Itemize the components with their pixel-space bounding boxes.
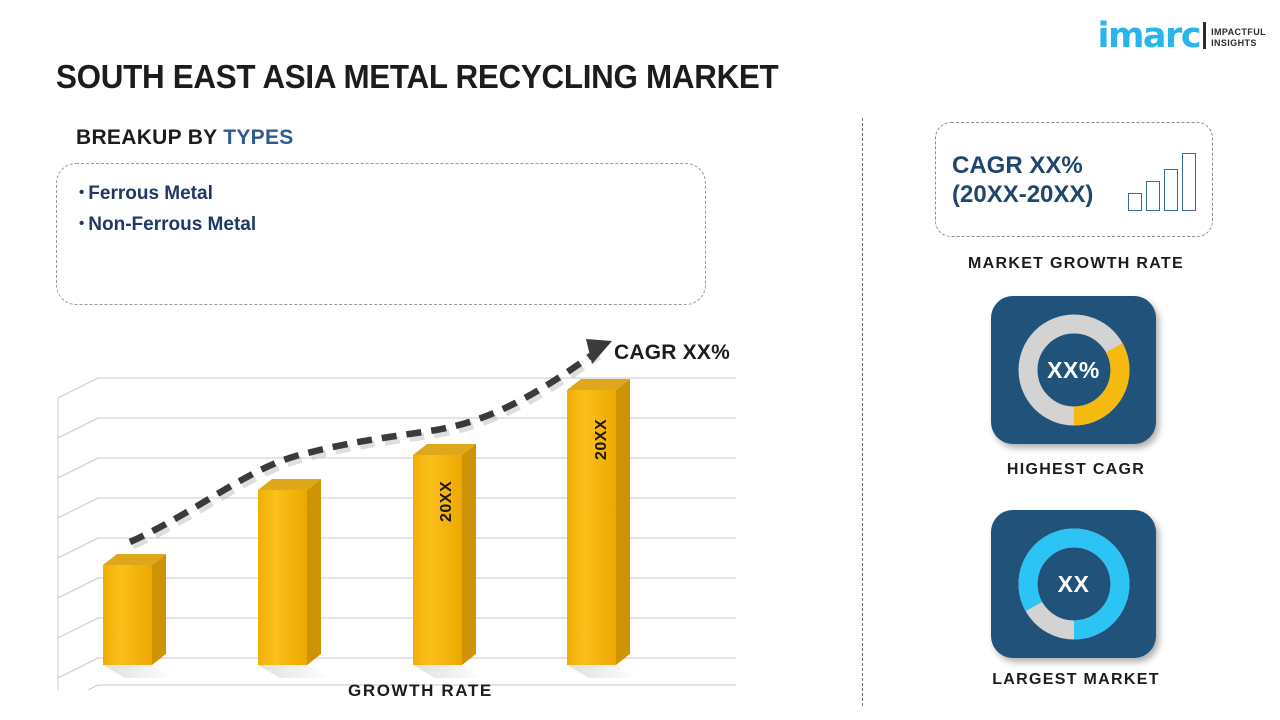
page-title: SOUTH EAST ASIA METAL RECYCLING MARKET: [56, 58, 778, 96]
list-item-label: Non-Ferrous Metal: [88, 214, 256, 235]
bar-2: [258, 479, 321, 665]
donut-value-highest-cagr: XX%: [1015, 311, 1133, 429]
list-item: •Ferrous Metal: [79, 178, 683, 209]
bullet-icon: •: [79, 215, 84, 232]
subtitle-accent: TYPES: [223, 126, 293, 149]
market-growth-rate-caption: MARKET GROWTH RATE: [926, 255, 1226, 273]
logo-tagline: IMPACTFUL INSIGHTS: [1211, 27, 1266, 49]
highest-cagr-caption: HIGHEST CAGR: [926, 461, 1226, 479]
chart-x-axis-label: GROWTH RATE: [348, 681, 493, 701]
market-growth-rate-card: CAGR XX% (20XX-20XX): [935, 122, 1213, 237]
bullet-icon: •: [79, 184, 84, 201]
bar-1: [103, 552, 166, 665]
donut-chart-largest-market: XX: [1015, 525, 1133, 643]
chart-trendline: [130, 339, 612, 546]
bar-label-3: 20XX: [438, 481, 456, 522]
bar-chart-icon: [1128, 149, 1196, 211]
logo-tagline-line2: INSIGHTS: [1211, 38, 1266, 49]
infographic-page: imarc IMPACTFUL INSIGHTS SOUTH EAST ASIA…: [0, 0, 1280, 720]
cagr-card-text: CAGR XX% (20XX-20XX): [952, 151, 1093, 209]
bar-shadows: [103, 665, 638, 678]
largest-market-caption: LARGEST MARKET: [926, 671, 1226, 689]
list-item: •Non-Ferrous Metal: [79, 209, 683, 240]
donut-chart-highest-cagr: XX%: [1015, 311, 1133, 429]
highest-cagr-tile: XX%: [991, 296, 1156, 444]
imarc-logo: imarc IMPACTFUL INSIGHTS: [1097, 12, 1266, 52]
subtitle-prefix: BREAKUP BY: [76, 126, 223, 149]
growth-rate-bar-chart: 20XX 20XX: [56, 330, 756, 690]
bar-label-4: 20XX: [593, 419, 611, 460]
breakup-types-box: •Ferrous Metal •Non-Ferrous Metal: [56, 163, 706, 305]
logo-tagline-line1: IMPACTFUL: [1211, 27, 1266, 38]
cagr-period: (20XX-20XX): [952, 180, 1093, 209]
list-item-label: Ferrous Metal: [88, 183, 213, 204]
logo-wordmark: imarc: [1097, 20, 1200, 52]
cagr-value: CAGR XX%: [952, 151, 1093, 180]
largest-market-tile: XX: [991, 510, 1156, 658]
bar-3: [413, 444, 476, 665]
panel-divider: [862, 118, 863, 706]
cagr-callout-label: CAGR XX%: [614, 341, 730, 365]
section-subtitle: BREAKUP BY TYPES: [76, 126, 294, 150]
logo-divider-bar: [1203, 22, 1206, 49]
donut-value-largest-market: XX: [1015, 525, 1133, 643]
